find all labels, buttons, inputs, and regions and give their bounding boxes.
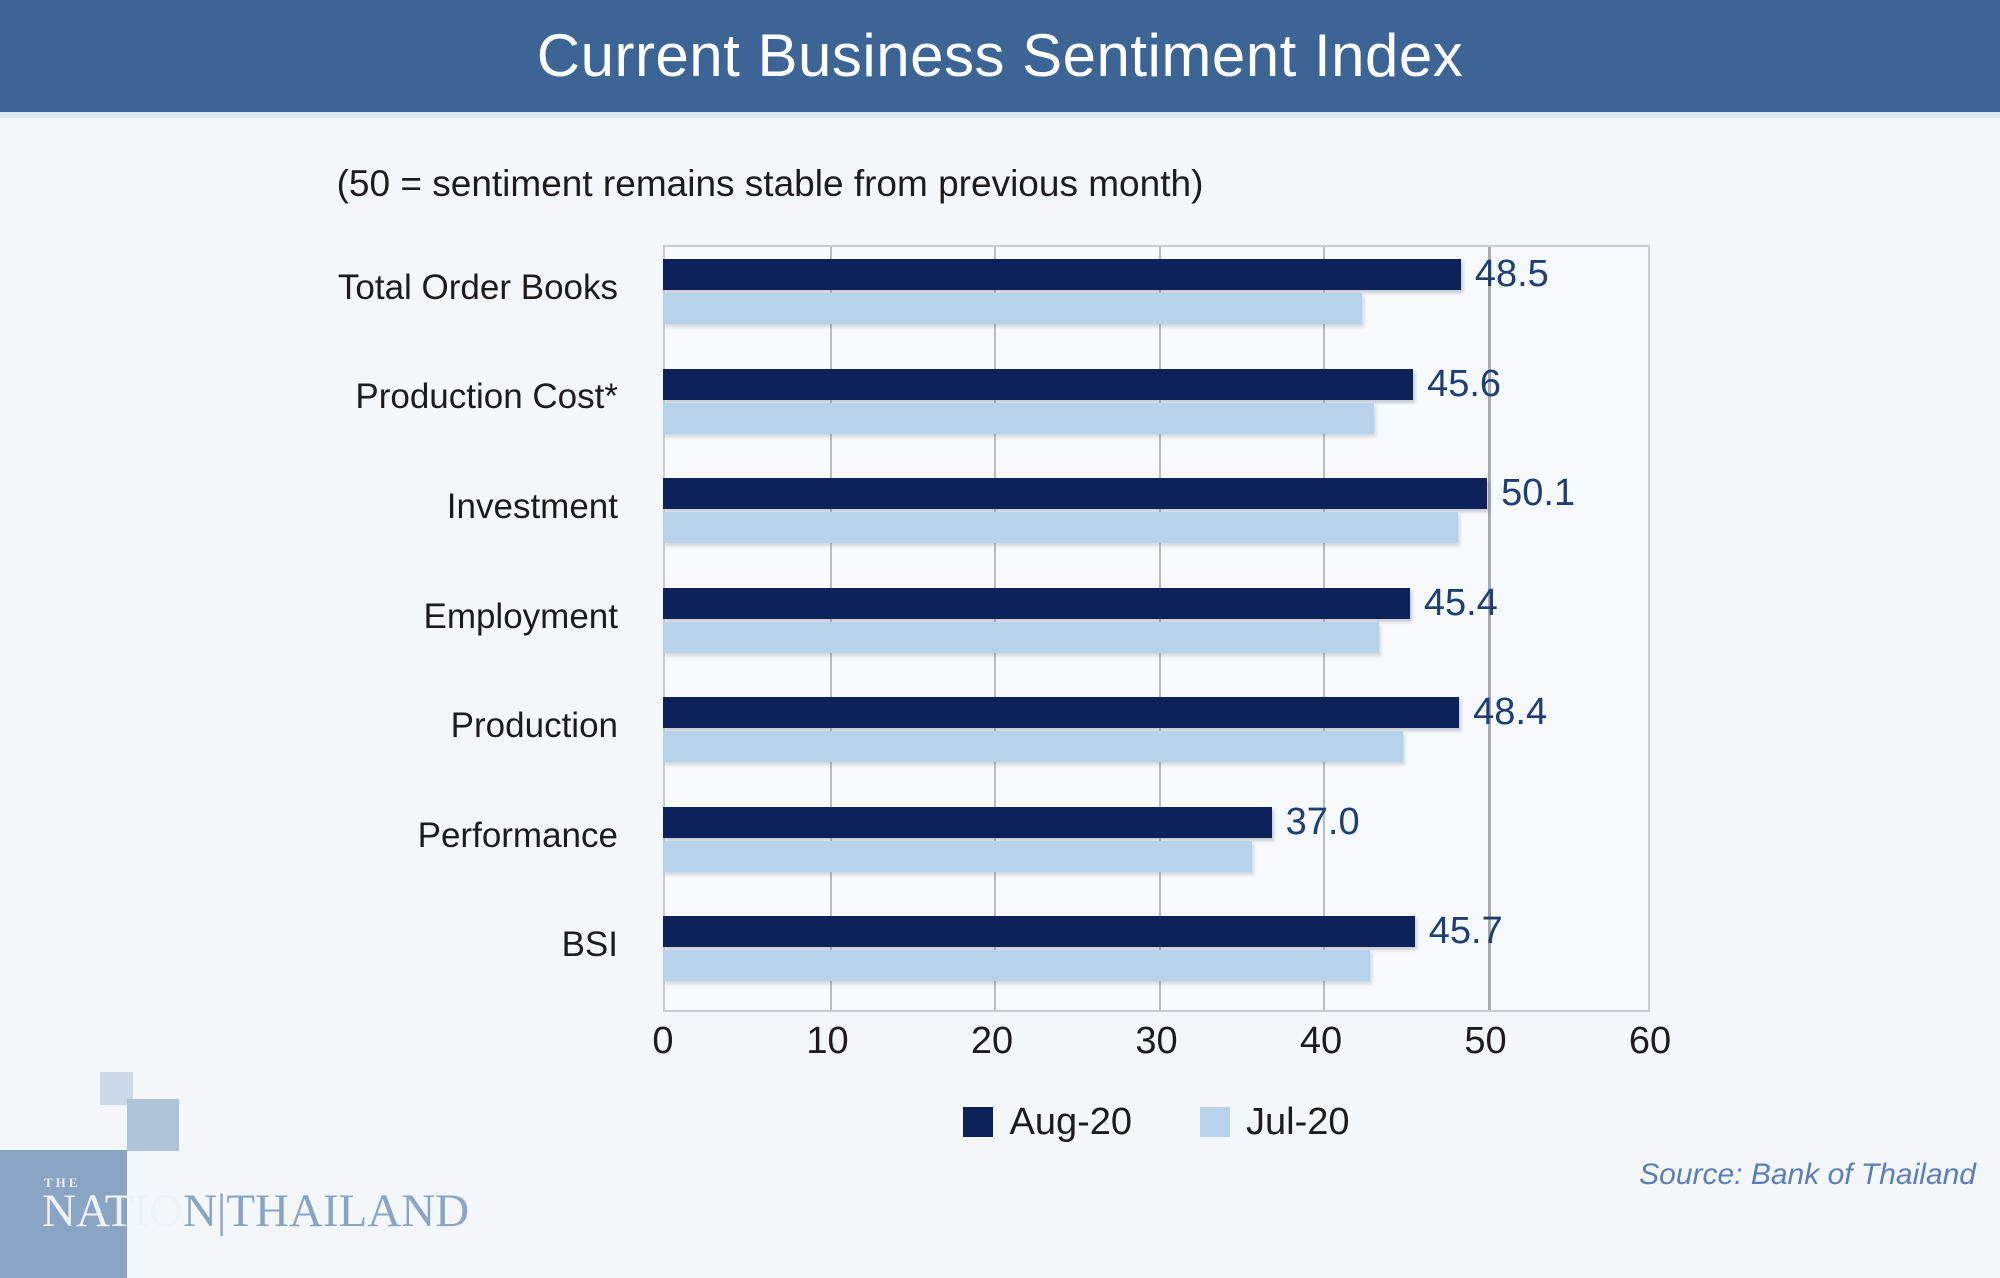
bar-jul20	[663, 622, 1379, 653]
chart-subtitle: (50 = sentiment remains stable from prev…	[0, 163, 1540, 205]
bar-aug20	[663, 478, 1487, 509]
legend-label: Aug-20	[1009, 1101, 1132, 1144]
x-tick-20: 20	[971, 1020, 1013, 1063]
x-axis-ticks: 0102030405060	[663, 1020, 1650, 1080]
x-tick-10: 10	[806, 1020, 848, 1063]
bar-group: 48.5	[663, 245, 1650, 355]
category-axis-labels: Total Order BooksProduction Cost*Investm…	[180, 245, 640, 1012]
header-bar: Current Business Sentiment Index	[0, 0, 2000, 112]
bar-value-label: 48.4	[1473, 691, 1547, 734]
legend-swatch-icon	[963, 1107, 993, 1137]
x-tick-40: 40	[1300, 1020, 1342, 1063]
category-label: Production Cost*	[355, 377, 618, 417]
bar-jul20	[663, 841, 1252, 872]
category-label: Production	[451, 706, 618, 746]
bar-jul20	[663, 512, 1458, 543]
chart-legend: Aug-20Jul-20	[663, 1093, 1650, 1151]
nation-thailand-logo: THE NATION|THAILAND	[0, 1053, 440, 1243]
bar-group: 45.4	[663, 574, 1650, 684]
bar-group: 48.4	[663, 683, 1650, 793]
bar-aug20	[663, 259, 1461, 290]
page-title: Current Business Sentiment Index	[537, 26, 1463, 86]
bar-value-label: 37.0	[1286, 801, 1360, 844]
bar-group: 45.6	[663, 355, 1650, 465]
bar-groups: 48.545.650.145.448.437.045.7	[663, 245, 1650, 1012]
x-tick-50: 50	[1464, 1020, 1506, 1063]
x-tick-30: 30	[1135, 1020, 1177, 1063]
legend-swatch-icon	[1200, 1107, 1230, 1137]
bar-jul20	[663, 950, 1370, 981]
bar-value-label: 45.7	[1429, 910, 1503, 953]
category-label: BSI	[562, 925, 618, 965]
chart-canvas: (50 = sentiment remains stable from prev…	[0, 118, 2000, 1125]
bar-value-label: 45.6	[1427, 363, 1501, 406]
source-attribution: Source: Bank of Thailand	[1639, 1158, 1976, 1192]
bar-aug20	[663, 697, 1459, 728]
bar-group: 45.7	[663, 902, 1650, 1012]
logo-wordmark-part1: NATIO	[42, 1185, 183, 1237]
category-label: Total Order Books	[338, 268, 618, 308]
logo-wordmark-part2: N|THAILAND	[183, 1185, 469, 1237]
bar-jul20	[663, 293, 1362, 324]
bar-value-label: 45.4	[1424, 582, 1498, 625]
category-label: Performance	[418, 816, 618, 856]
bar-aug20	[663, 916, 1415, 947]
legend-item[interactable]: Aug-20	[963, 1101, 1132, 1144]
bar-group: 37.0	[663, 793, 1650, 903]
legend-item[interactable]: Jul-20	[1200, 1101, 1350, 1144]
x-tick-60: 60	[1629, 1020, 1671, 1063]
bar-aug20	[663, 369, 1413, 400]
bar-aug20	[663, 588, 1410, 619]
bar-group: 50.1	[663, 464, 1650, 574]
category-label: Investment	[447, 487, 618, 527]
category-label: Employment	[423, 597, 618, 637]
bar-aug20	[663, 807, 1272, 838]
logo-wordmark: NATION|THAILAND	[42, 1184, 469, 1238]
bar-value-label: 50.1	[1501, 472, 1575, 515]
bar-jul20	[663, 731, 1403, 762]
bar-jul20	[663, 403, 1374, 434]
legend-label: Jul-20	[1246, 1101, 1350, 1144]
x-tick-0: 0	[652, 1020, 673, 1063]
bar-value-label: 48.5	[1475, 253, 1549, 296]
logo-square-medium-icon	[127, 1099, 179, 1151]
